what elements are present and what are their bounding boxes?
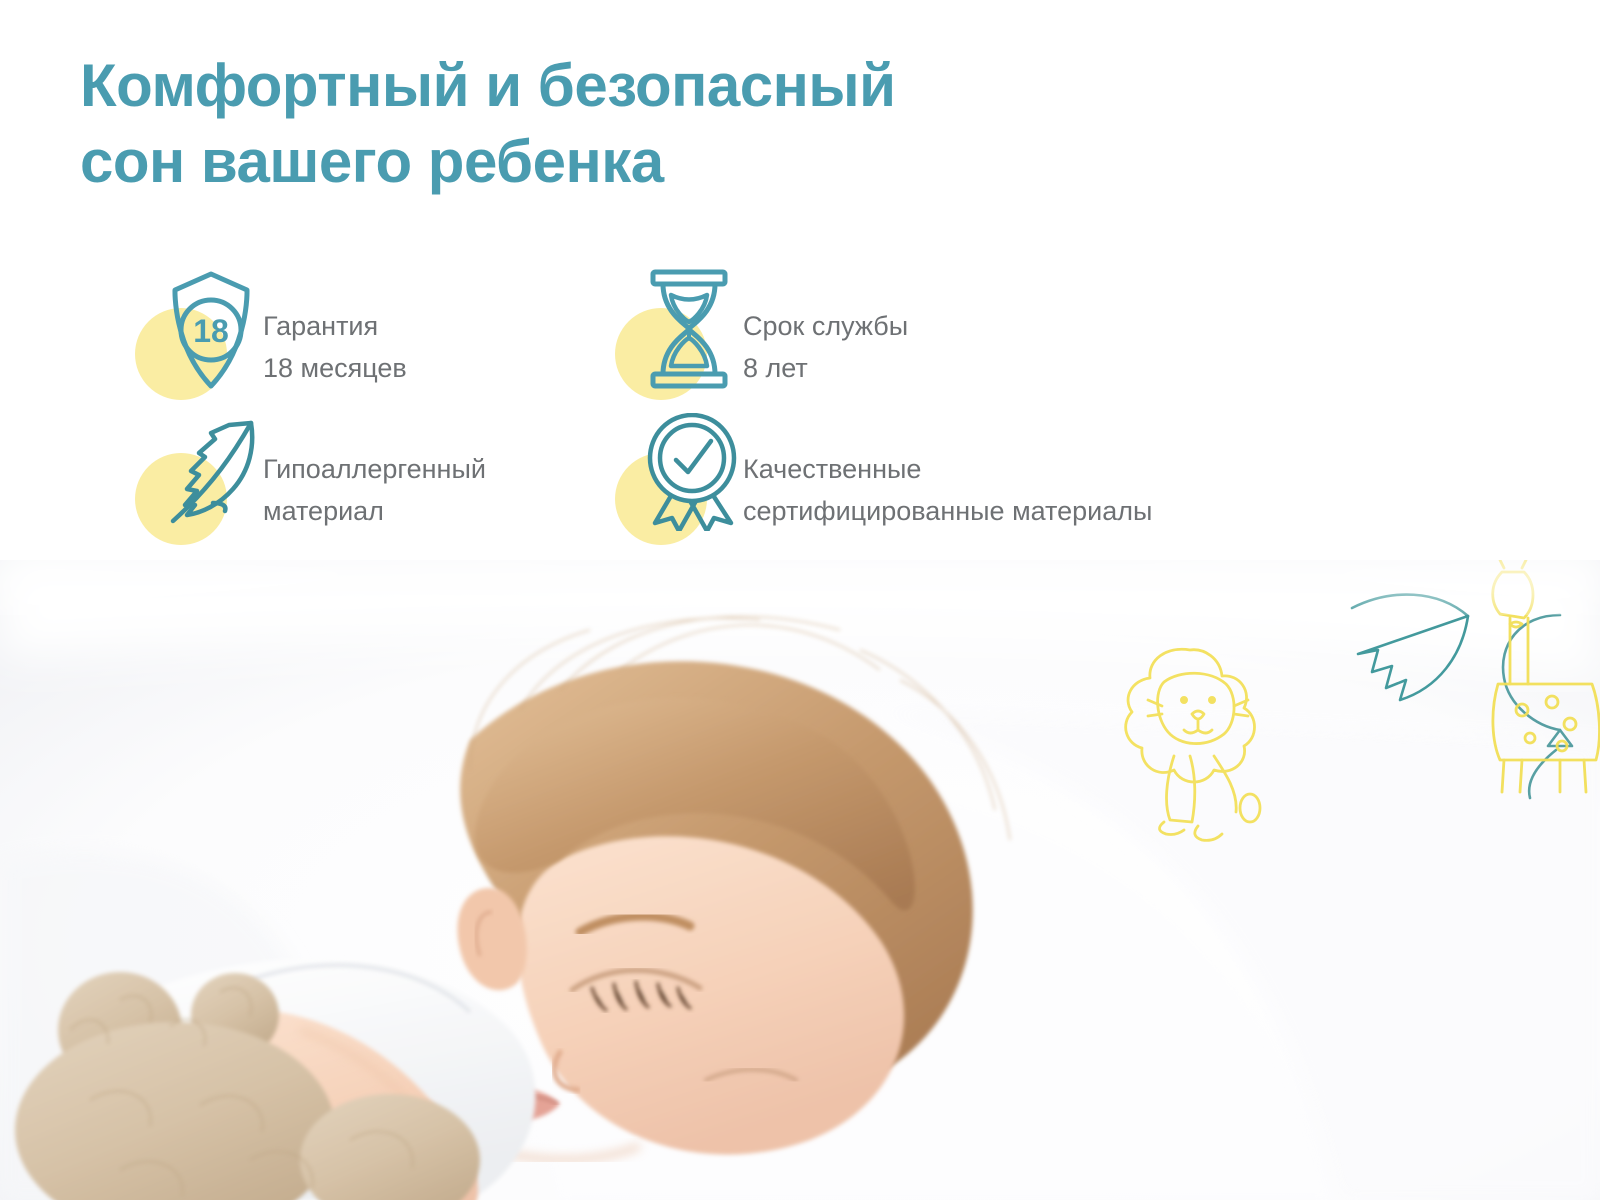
feature-hypoallergenic: Гипоаллергенный материал (135, 407, 615, 542)
feature-hypoallergenic-label: Гипоаллергенный материал (263, 407, 486, 533)
hourglass-icon (645, 268, 733, 390)
feature-row: 18 Гарантия 18 месяцев (135, 262, 1335, 397)
shield-18-icon: 18 (165, 268, 257, 393)
feature-grid: 18 Гарантия 18 месяцев (135, 262, 1335, 552)
feature-lifetime-label: Срок службы 8 лет (743, 262, 908, 390)
shield-18-icon-wrap: 18 (135, 262, 255, 397)
page-title: Комфортный и безопасный сон вашего ребен… (80, 48, 1130, 200)
hero-photo (0, 560, 1600, 1200)
hero-photo-illustration (0, 560, 1600, 1200)
promo-page: Комфортный и безопасный сон вашего ребен… (0, 0, 1600, 1200)
shield-badge-number: 18 (193, 313, 229, 349)
feature-lifetime: Срок службы 8 лет (615, 262, 1315, 397)
hourglass-icon-wrap (615, 262, 735, 397)
feature-certified-label: Качественные сертифицированные материалы (743, 407, 1152, 533)
award-check-icon (645, 413, 741, 531)
feature-certified: Качественные сертифицированные материалы (615, 407, 1315, 542)
feature-warranty: 18 Гарантия 18 месяцев (135, 262, 615, 397)
feather-icon-wrap (135, 407, 255, 542)
award-check-icon-wrap (615, 407, 735, 542)
feature-row: Гипоаллергенный материал Качественные се… (135, 407, 1335, 542)
feature-warranty-label: Гарантия 18 месяцев (263, 262, 407, 390)
feather-icon (165, 413, 265, 531)
